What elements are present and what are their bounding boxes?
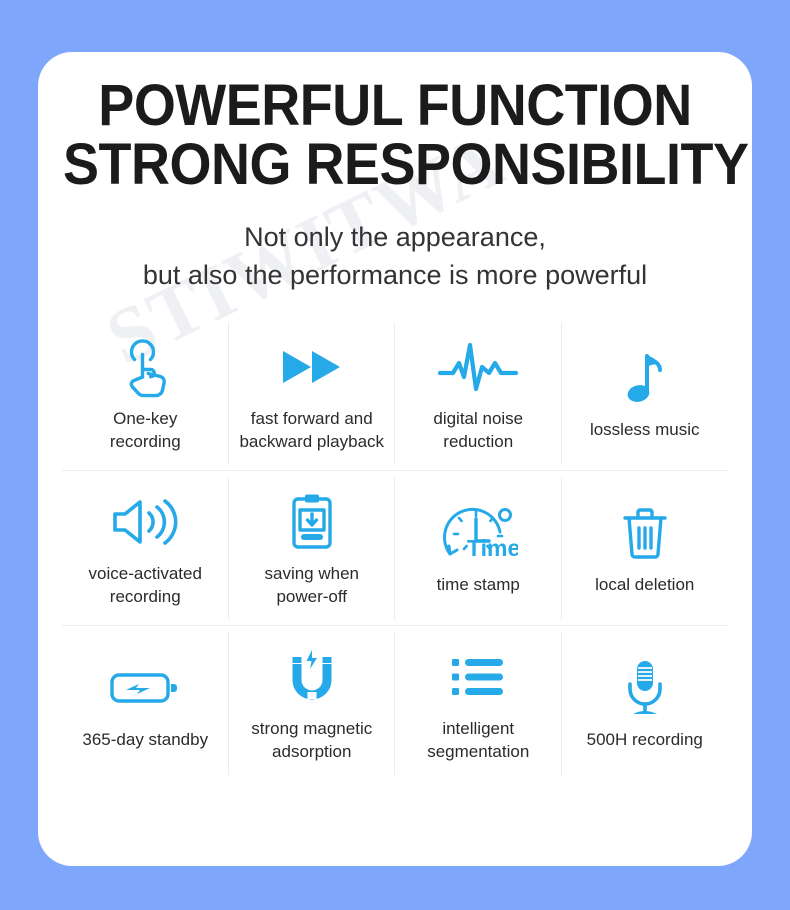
waveform-icon — [437, 336, 519, 398]
clock-time-text: Time — [467, 535, 518, 561]
feature-cell-standby[interactable]: 365-day standby — [62, 626, 229, 781]
subtitle-line-1: Not only the appearance, — [38, 218, 752, 256]
feature-cell-noise-reduction[interactable]: digital noisereduction — [395, 316, 562, 471]
trash-can-icon — [619, 502, 671, 564]
fast-forward-icon — [279, 336, 345, 398]
feature-cell-local-deletion[interactable]: local deletion — [562, 471, 729, 626]
clipboard-save-icon — [288, 491, 336, 553]
page-title-line-2: STRONG RESPONSIBILITY — [63, 137, 727, 194]
feature-grid: One-keyrecording fast forward andbackwar… — [62, 316, 728, 781]
magnet-icon — [285, 646, 339, 708]
feature-label: lossless music — [590, 419, 700, 442]
feature-label: One-keyrecording — [110, 408, 181, 454]
page-root: STIWITWA POWERFUL FUNCTION STRONG RESPON… — [0, 0, 790, 910]
feature-card: STIWITWA POWERFUL FUNCTION STRONG RESPON… — [38, 52, 752, 866]
feature-label: 365-day standby — [82, 729, 208, 752]
feature-cell-fast-forward[interactable]: fast forward andbackward playback — [229, 316, 396, 471]
feature-cell-time-stamp[interactable]: Time time stamp — [395, 471, 562, 626]
feature-label: local deletion — [595, 574, 694, 597]
feature-cell-power-off-saving[interactable]: saving whenpower-off — [229, 471, 396, 626]
battery-charge-icon — [109, 657, 181, 719]
microphone-icon — [621, 657, 669, 719]
feature-label: fast forward andbackward playback — [239, 408, 384, 454]
feature-cell-voice-activated[interactable]: voice-activatedrecording — [62, 471, 229, 626]
touch-tap-icon — [116, 336, 174, 398]
feature-label: strong magneticadsorption — [251, 718, 372, 764]
list-segments-icon — [450, 646, 506, 708]
feature-cell-lossless-music[interactable]: lossless music — [562, 316, 729, 471]
page-title-line-1: POWERFUL FUNCTION — [63, 78, 727, 135]
feature-cell-one-key-recording[interactable]: One-keyrecording — [62, 316, 229, 471]
feature-label: voice-activatedrecording — [89, 563, 202, 609]
clock-time-icon: Time — [438, 502, 518, 564]
speaker-sound-icon — [109, 491, 181, 553]
heading-block: POWERFUL FUNCTION STRONG RESPONSIBILITY … — [38, 52, 752, 294]
feature-label: digital noisereduction — [433, 408, 523, 454]
feature-cell-magnetic[interactable]: strong magneticadsorption — [229, 626, 396, 781]
feature-cell-segmentation[interactable]: intelligentsegmentation — [395, 626, 562, 781]
feature-label: time stamp — [437, 574, 520, 597]
music-note-icon — [623, 347, 667, 409]
feature-label: saving whenpower-off — [264, 563, 359, 609]
feature-label: intelligentsegmentation — [427, 718, 529, 764]
feature-label: 500H recording — [587, 729, 703, 752]
feature-cell-500h-recording[interactable]: 500H recording — [562, 626, 729, 781]
subtitle-line-2: but also the performance is more powerfu… — [38, 256, 752, 294]
